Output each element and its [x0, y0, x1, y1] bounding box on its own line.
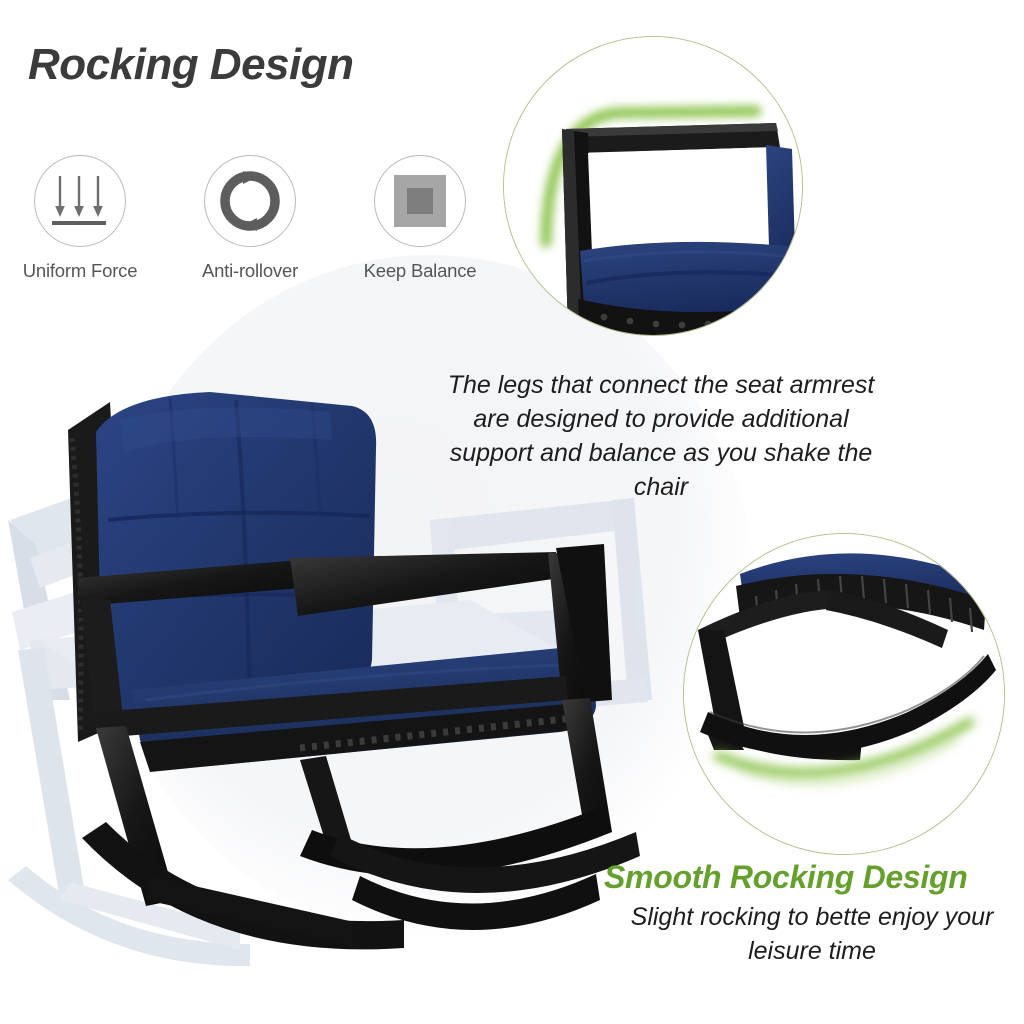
page-title: Rocking Design: [28, 40, 354, 90]
down-arrows-on-baseline-icon: [48, 170, 112, 232]
feature-icon-circle: [374, 155, 466, 247]
rocker-runner-detail: [684, 534, 1005, 855]
armrest-leg-joint-detail: [504, 37, 803, 336]
feature-icon-circle: [34, 155, 126, 247]
smooth-rocking-subtext: Slight rocking to bette enjoy your leisu…: [600, 900, 1024, 968]
inset-rocker-detail: [683, 533, 1005, 855]
feature-uniform-force: Uniform Force: [14, 155, 146, 282]
smooth-rocking-heading: Smooth Rocking Design: [604, 859, 1024, 896]
circular-rotation-arrows-icon: [218, 169, 282, 233]
nested-squares-icon: [392, 173, 448, 229]
feature-anti-rollover: Anti-rollover: [184, 155, 316, 282]
feature-label: Keep Balance: [364, 260, 477, 282]
feature-label: Anti-rollover: [202, 260, 298, 282]
feature-keep-balance: Keep Balance: [354, 155, 486, 282]
feature-icon-row: Uniform Force Anti-rollover Keep Bal: [14, 155, 486, 282]
product-feature-graphic: Rocking Design Uniform Force: [0, 0, 1024, 1024]
feature-label: Uniform Force: [23, 260, 138, 282]
feature-icon-circle: [204, 155, 296, 247]
inset-armrest-detail: [503, 36, 803, 336]
caption-armrest-text: The legs that connect the seat armrest a…: [446, 368, 876, 504]
